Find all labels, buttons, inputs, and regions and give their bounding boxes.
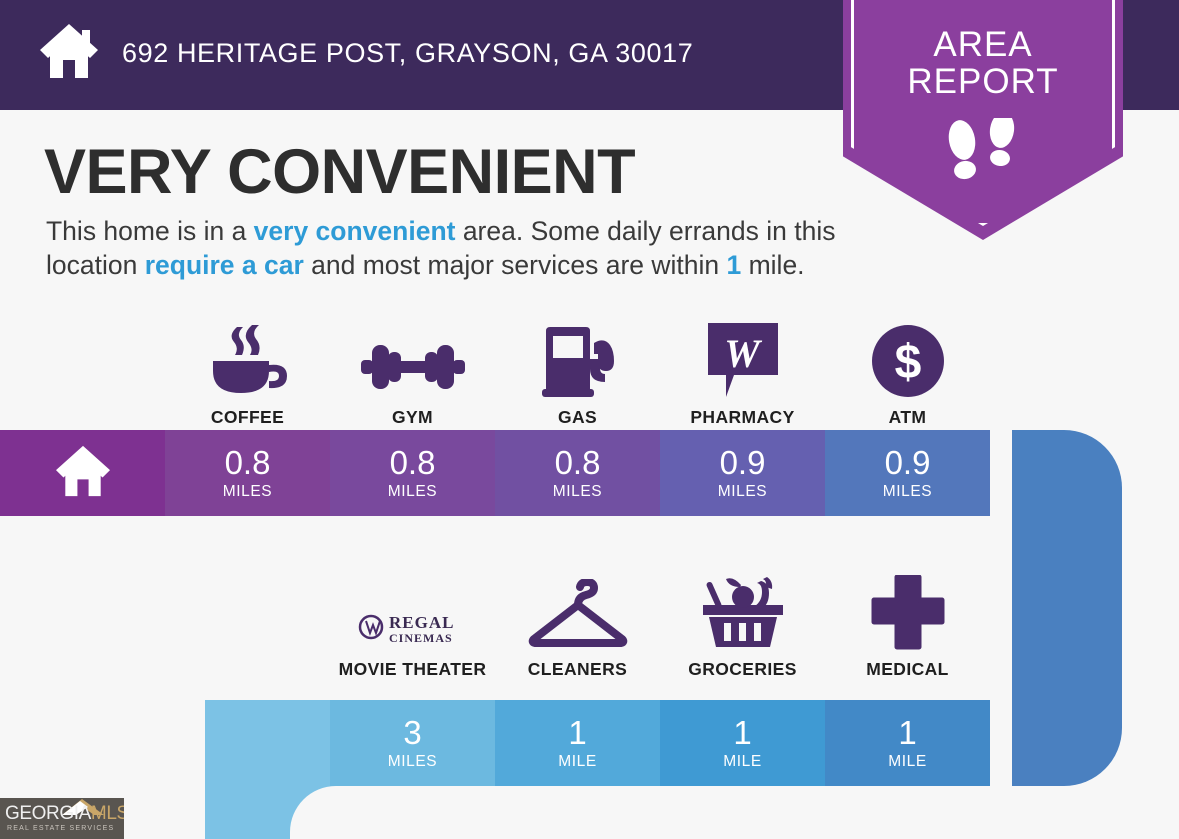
svg-text:CINEMAS: CINEMAS — [389, 631, 453, 645]
distance-unit: MILES — [223, 483, 273, 501]
distance-spacer — [0, 700, 165, 786]
desc-part-4: mile. — [741, 250, 804, 280]
distance-value: 0.8 — [555, 446, 601, 479]
distance-spacer — [165, 700, 330, 786]
svg-text:W: W — [724, 331, 762, 376]
distance-unit: MILES — [388, 753, 438, 771]
svg-text:$: $ — [894, 336, 921, 389]
distance-unit: MILES — [553, 483, 603, 501]
amenity-icon-coffee: COFFEE — [165, 318, 330, 428]
distance-row-2: 3MILES1MILE1MILE1MILE — [0, 700, 1179, 786]
distance-unit: MILES — [388, 483, 438, 501]
desc-highlight-3: 1 — [726, 250, 741, 280]
distance-cell-pharmacy: 0.9MILES — [660, 430, 825, 516]
regal-cinemas-icon: REGAL CINEMAS — [357, 577, 469, 651]
distance-cell-medical: 1MILE — [825, 700, 990, 786]
distance-value: 1 — [568, 716, 586, 749]
distance-value: 1 — [898, 716, 916, 749]
home-icon — [54, 444, 112, 503]
page-title: VERY CONVENIENT — [44, 141, 635, 204]
track-bottom-tail — [205, 786, 293, 839]
badge-title: AREA REPORT — [843, 26, 1123, 100]
amenity-label: GYM — [392, 407, 433, 428]
amenity-icon-pharmacy: W PHARMACY — [660, 318, 825, 428]
amenity-label: GAS — [558, 407, 597, 428]
gas-pump-icon — [540, 325, 616, 399]
amenity-label: MEDICAL — [866, 659, 949, 680]
distance-unit: MILE — [888, 753, 927, 771]
desc-highlight-2: require a car — [145, 250, 304, 280]
icon-spacer — [165, 570, 330, 680]
home-icon — [38, 22, 100, 85]
amenity-icon-cleaners: CLEANERS — [495, 570, 660, 680]
icon-spacer — [0, 318, 165, 428]
amenity-icon-medical: MEDICAL — [825, 570, 990, 680]
distance-value: 0.9 — [720, 446, 766, 479]
footprints-icon — [940, 118, 1026, 199]
walgreens-w-icon: W — [704, 325, 782, 399]
medical-cross-icon — [870, 577, 946, 651]
desc-part-1: This home is in a — [46, 216, 254, 246]
amenity-label: MOVIE THEATER — [339, 659, 487, 680]
property-address: 692 HERITAGE POST, GRAYSON, GA 30017 — [122, 38, 693, 69]
icon-row-1: COFFEE GYM GAS W PHARMACY — [0, 318, 1179, 428]
distance-cell-gas: 0.8MILES — [495, 430, 660, 516]
grocery-basket-icon — [697, 577, 789, 651]
bottom-backdrop — [290, 786, 1179, 839]
mls-wordmark: GEORGIAMLS — [5, 804, 124, 823]
distance-row-1: 0.8MILES0.8MILES0.8MILES0.9MILES0.9MILES — [0, 430, 1179, 516]
icon-spacer — [0, 570, 165, 680]
distance-cell-groceries: 1MILE — [660, 700, 825, 786]
home-marker-cell — [0, 430, 165, 516]
distance-cell-movie-theater: 3MILES — [330, 700, 495, 786]
dumbbell-icon — [361, 325, 465, 399]
mls-georgia: GEORGIA — [5, 803, 91, 824]
amenity-icon-movie-theater: REGAL CINEMAS MOVIE THEATER — [330, 570, 495, 680]
svg-text:REGAL: REGAL — [389, 613, 454, 632]
coffee-cup-icon — [207, 325, 289, 399]
badge-line-1: AREA — [843, 26, 1123, 63]
mls-mls: MLS — [91, 803, 124, 824]
distance-unit: MILE — [558, 753, 597, 771]
distance-cell-gym: 0.8MILES — [330, 430, 495, 516]
dollar-circle-icon: $ — [870, 325, 946, 399]
distance-value: 0.8 — [225, 446, 271, 479]
desc-part-3: and most major services are within — [304, 250, 727, 280]
distance-unit: MILES — [718, 483, 768, 501]
distance-unit: MILES — [883, 483, 933, 501]
icon-row-2: REGAL CINEMAS MOVIE THEATER CLEANERS GRO… — [0, 570, 1179, 680]
area-report-infographic: 692 HERITAGE POST, GRAYSON, GA 30017 ARE… — [0, 0, 1179, 839]
distance-cell-coffee: 0.8MILES — [165, 430, 330, 516]
desc-highlight-1: very convenient — [254, 216, 456, 246]
mls-tagline: REAL ESTATE SERVICES — [7, 825, 114, 832]
amenity-icon-gym: GYM — [330, 318, 495, 428]
distance-unit: MILE — [723, 753, 762, 771]
distance-value: 0.9 — [885, 446, 931, 479]
description-text: This home is in a very convenient area. … — [46, 215, 836, 283]
amenity-icon-groceries: GROCERIES — [660, 570, 825, 680]
distance-cell-cleaners: 1MILE — [495, 700, 660, 786]
distance-cell-atm: 0.9MILES — [825, 430, 990, 516]
amenity-label: ATM — [889, 407, 927, 428]
distance-value: 3 — [403, 716, 421, 749]
distance-value: 1 — [733, 716, 751, 749]
amenity-label: PHARMACY — [690, 407, 794, 428]
amenity-icon-atm: $ ATM — [825, 318, 990, 428]
amenity-label: GROCERIES — [688, 659, 797, 680]
amenity-icon-gas: GAS — [495, 318, 660, 428]
clothes-hanger-icon — [524, 577, 632, 651]
georgia-mls-logo: GEORGIAMLS REAL ESTATE SERVICES — [0, 798, 124, 839]
badge-line-2: REPORT — [843, 63, 1123, 100]
amenity-label: CLEANERS — [528, 659, 627, 680]
distance-value: 0.8 — [390, 446, 436, 479]
amenity-label: COFFEE — [211, 407, 284, 428]
header-content: 692 HERITAGE POST, GRAYSON, GA 30017 — [38, 22, 693, 85]
